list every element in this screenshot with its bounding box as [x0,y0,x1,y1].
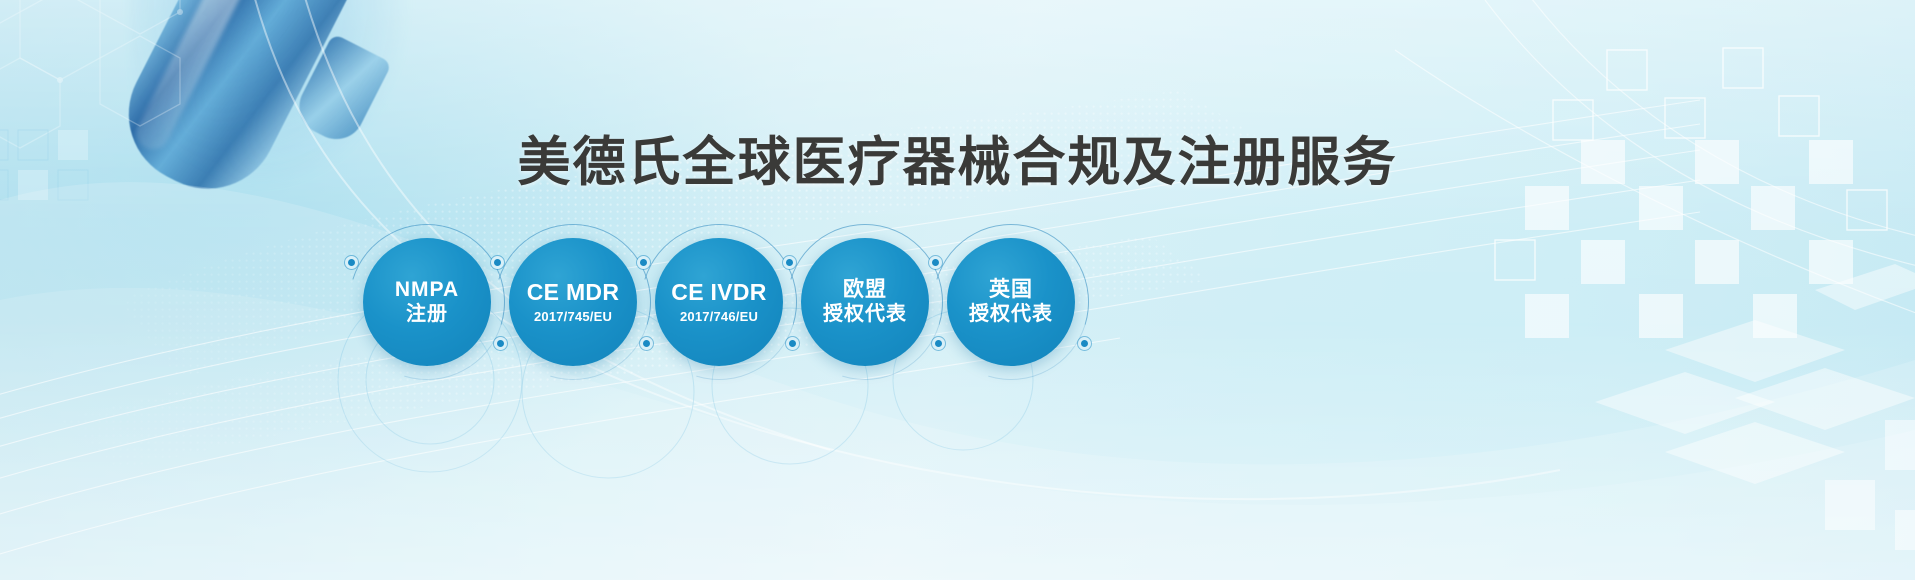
badge-label-primary: 英国 [989,278,1033,302]
service-badge-uk-rep[interactable]: 英国 授权代表 [947,238,1075,366]
orbit-node-dot [783,256,796,269]
badge-label-secondary: 2017/746/EU [680,309,758,325]
badge-label-primary: CE MDR [527,279,620,305]
badge-disc[interactable]: 英国 授权代表 [947,238,1075,366]
orbit-node-dot [345,256,358,269]
service-badge-row: NMPA 注册 CE MDR 2017/745/EU CE IVDR 2017/… [363,238,1213,366]
badge-disc[interactable]: 欧盟 授权代表 [801,238,929,366]
service-badge-eu-rep[interactable]: 欧盟 授权代表 [801,238,929,366]
badge-label-primary: NMPA [395,278,459,302]
service-badge-ce-mdr[interactable]: CE MDR 2017/745/EU [509,238,637,366]
badge-label-secondary: 2017/745/EU [534,309,612,325]
badge-disc[interactable]: CE MDR 2017/745/EU [509,238,637,366]
service-badge-ce-ivdr[interactable]: CE IVDR 2017/746/EU [655,238,783,366]
orbit-node-dot [637,256,650,269]
badge-label-secondary: 授权代表 [969,302,1053,326]
orbit-node-dot [491,256,504,269]
orbit-node-dot [1078,337,1091,350]
badge-disc[interactable]: CE IVDR 2017/746/EU [655,238,783,366]
badge-label-primary: 欧盟 [843,278,887,302]
tech-blocks-graphic [1195,0,1915,580]
badge-label-secondary: 授权代表 [823,302,907,326]
service-badge-nmpa[interactable]: NMPA 注册 [363,238,491,366]
page-title: 美德氏全球医疗器械合规及注册服务 [0,120,1915,196]
orbit-node-dot [929,256,942,269]
badge-label-primary: CE IVDR [671,279,766,305]
badge-disc[interactable]: NMPA 注册 [363,238,491,366]
badge-label-secondary: 注册 [406,302,448,326]
banner-hero: 美德氏全球医疗器械合规及注册服务 NMPA 注册 CE MDR 2017/745… [0,0,1915,580]
